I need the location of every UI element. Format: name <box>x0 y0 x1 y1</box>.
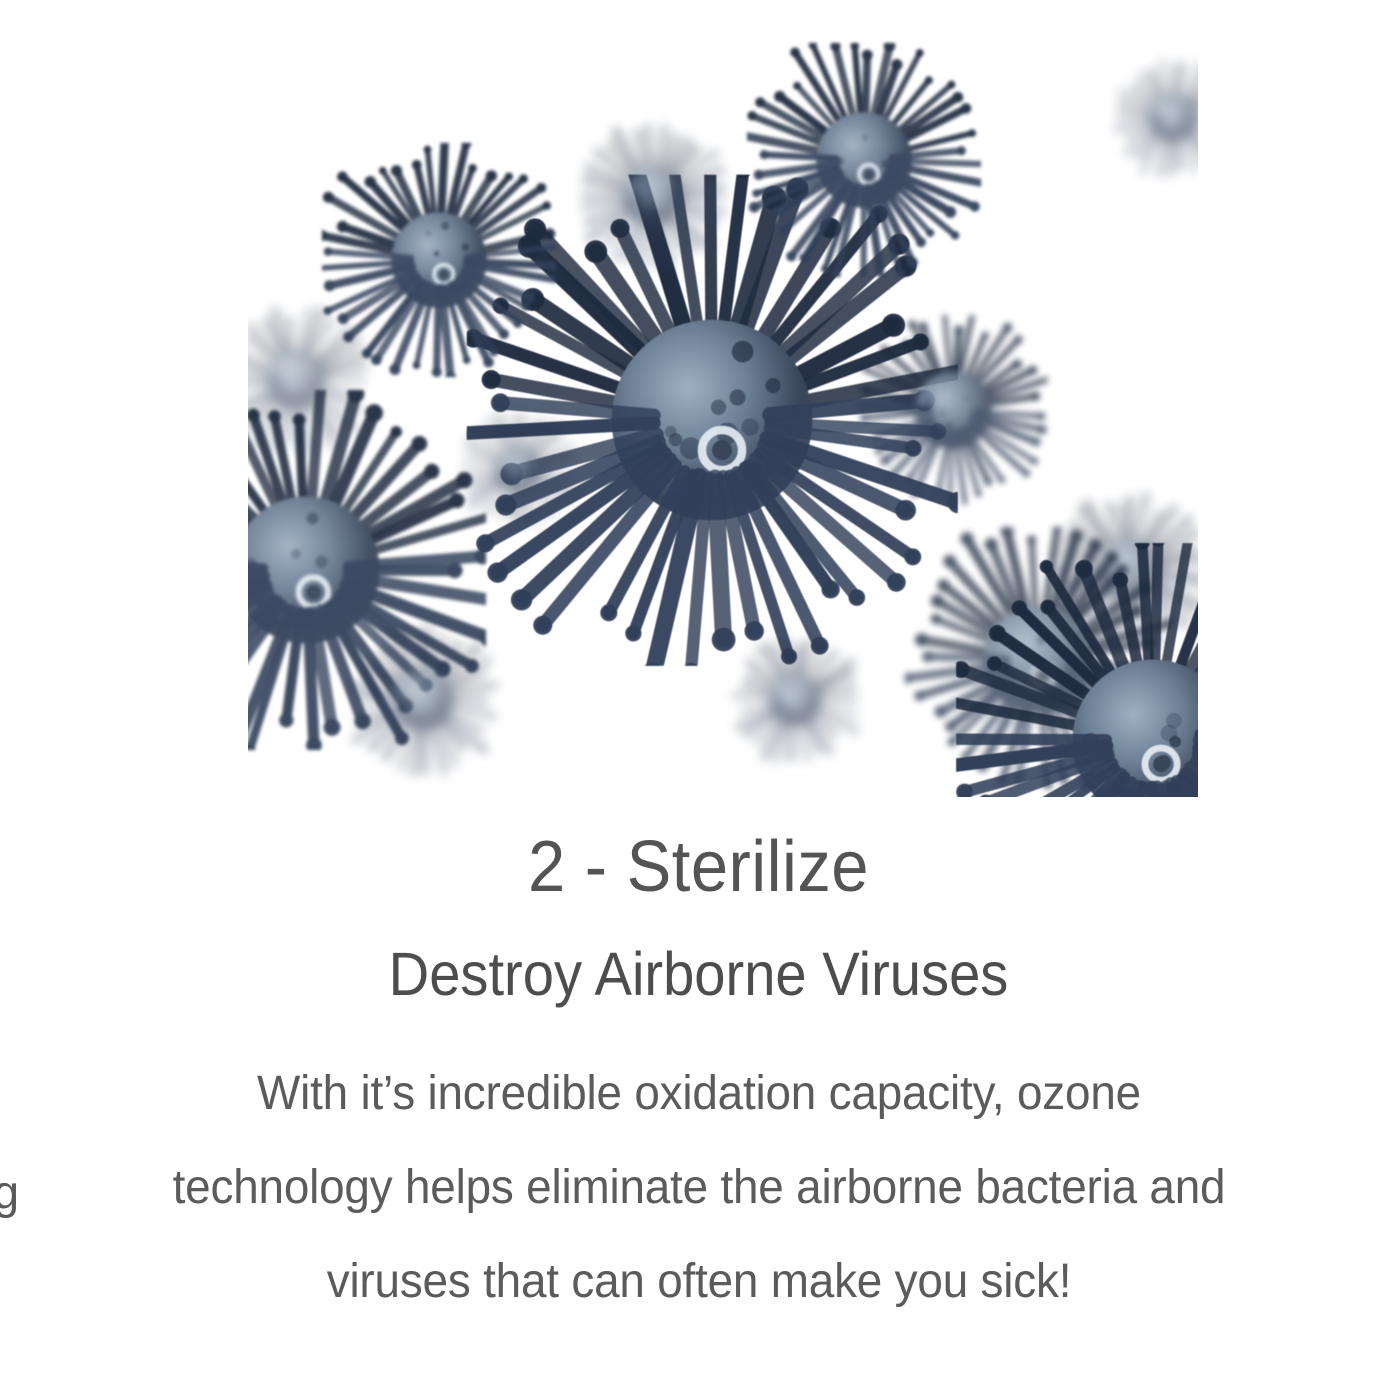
body-line: With it’s incredible oxidation capacity,… <box>111 1047 1286 1141</box>
body-line: viruses that can often make you sick! <box>111 1235 1286 1329</box>
virus-particle-icon <box>349 626 498 775</box>
virus-particle-icon <box>732 637 858 763</box>
virus-particle-icon <box>956 543 1198 797</box>
hero-image <box>248 0 1198 797</box>
page-root: g 2 - Sterilize Destroy Airborne Viruses… <box>0 0 1397 1386</box>
virus-particle-icon <box>462 414 575 527</box>
virus-particle-icon <box>1115 60 1199 177</box>
body-line: technology helps eliminate the airborne … <box>111 1141 1286 1235</box>
virus-particle-icon <box>747 43 981 277</box>
body-paragraph: With it’s incredible oxidation capacity,… <box>111 1047 1286 1329</box>
page-title: 2 - Sterilize <box>49 826 1348 908</box>
text-content-block: 2 - Sterilize Destroy Airborne Viruses W… <box>0 826 1397 1329</box>
virus-particle-icon <box>581 124 725 268</box>
virus-particle-icon <box>859 316 1048 505</box>
virus-particle-canvas <box>248 0 1198 797</box>
page-subtitle: Destroy Airborne Viruses <box>56 938 1341 1011</box>
